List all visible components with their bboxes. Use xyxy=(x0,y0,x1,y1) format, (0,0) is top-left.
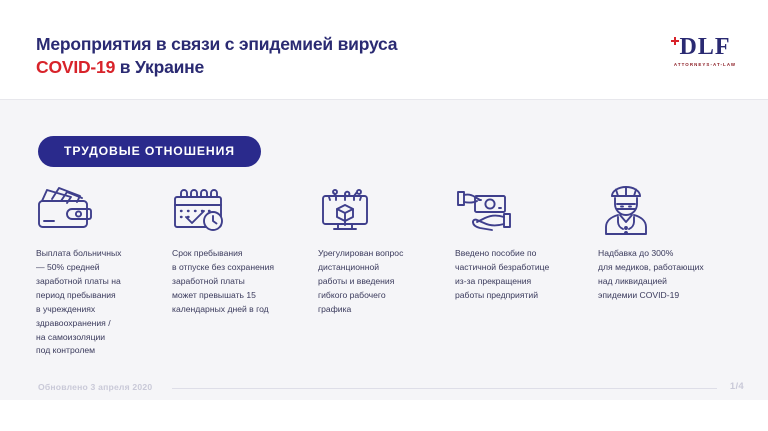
measure-column: Выплата больничных — 50% средней заработ… xyxy=(36,183,168,358)
red-cross-icon xyxy=(671,37,679,45)
page-title-line2: в Украине xyxy=(115,57,204,77)
infographic-slide: Мероприятия в связи с эпидемией вирусаCO… xyxy=(0,0,768,431)
page-title-line1: Мероприятия в связи с эпидемией вируса xyxy=(36,34,397,54)
footer-divider xyxy=(172,388,717,389)
header-bar: Мероприятия в связи с эпидемией вирусаCO… xyxy=(0,0,768,100)
section-badge: ТРУДОВЫЕ ОТНОШЕНИЯ xyxy=(38,136,261,167)
measure-column: Надбавка до 300% для медиков, работающих… xyxy=(598,183,748,303)
wallet-money-icon xyxy=(36,183,168,239)
page-title: Мероприятия в связи с эпидемией вирусаCO… xyxy=(36,33,397,80)
measure-column: Урегулирован вопрос дистанционной работы… xyxy=(318,183,444,317)
logo-mark-text: DLF xyxy=(680,34,731,60)
logo-wordmark: DLF xyxy=(666,34,744,60)
dlf-logo[interactable]: DLF ATTORNEYS-AT-LAW xyxy=(666,34,744,70)
measures-columns: Выплата больничных — 50% средней заработ… xyxy=(0,183,768,343)
calendar-check-clock-icon xyxy=(172,183,304,239)
measure-column: Введено пособие по частичной безработице… xyxy=(455,183,585,303)
measure-text: Урегулирован вопрос дистанционной работы… xyxy=(318,247,444,317)
measure-text: Выплата больничных — 50% средней заработ… xyxy=(36,247,168,358)
page-title-covid: COVID-19 xyxy=(36,57,115,77)
footer-band xyxy=(0,400,768,431)
measure-column: Срок пребывания в отпуске без сохранения… xyxy=(172,183,304,317)
page-indicator: 1/4 xyxy=(730,381,744,392)
measure-text: Введено пособие по частичной безработице… xyxy=(455,247,585,303)
measure-text: Надбавка до 300% для медиков, работающих… xyxy=(598,247,748,303)
logo-tagline: ATTORNEYS-AT-LAW xyxy=(666,61,744,68)
footer: Обновлено 3 апреля 2020 1/4 xyxy=(0,380,768,402)
doctor-mask-stethoscope-icon xyxy=(598,183,748,239)
remote-work-monitor-icon xyxy=(318,183,444,239)
hand-giving-money-icon xyxy=(455,183,585,239)
measure-text: Срок пребывания в отпуске без сохранения… xyxy=(172,247,304,317)
header-divider xyxy=(0,99,768,100)
updated-label: Обновлено 3 апреля 2020 xyxy=(38,382,152,392)
